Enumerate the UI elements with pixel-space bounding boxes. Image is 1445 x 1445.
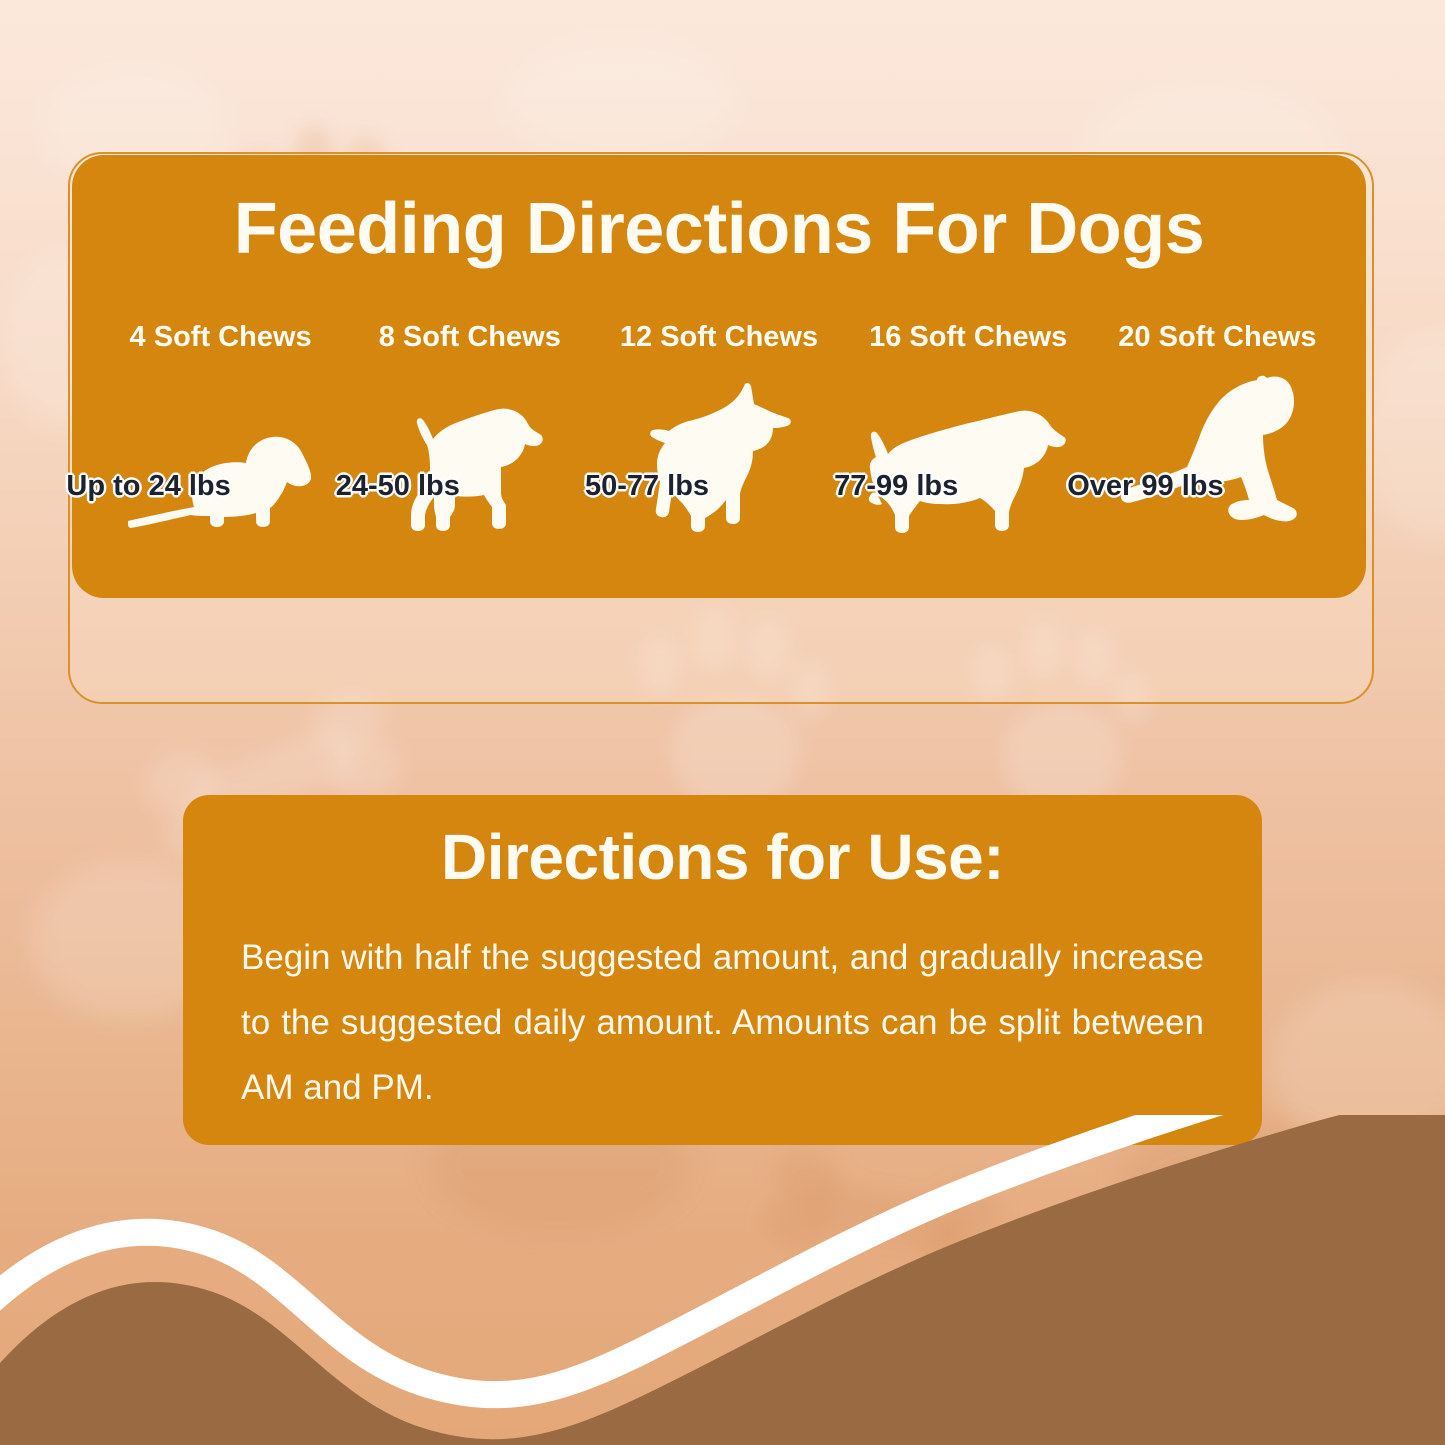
weight-range-label: 50-77 lbs [522, 470, 771, 503]
dog-silhouette-cell [345, 367, 594, 537]
page-title: Feeding Directions For Dogs [72, 193, 1366, 265]
directions-title: Directions for Use: [183, 825, 1262, 889]
dog-silhouette-cell [594, 367, 843, 537]
dog-silhouette-cell [844, 367, 1093, 537]
weight-range-row: Up to 24 lbs 24-50 lbs 50-77 lbs 77-99 l… [24, 470, 1270, 503]
weight-range-label: 77-99 lbs [772, 470, 1021, 503]
dog-silhouettes-row [96, 367, 1342, 537]
directions-for-use-card: Directions for Use: Begin with half the … [183, 795, 1262, 1145]
soft-chews-row: 4 Soft Chews 8 Soft Chews 12 Soft Chews … [96, 321, 1342, 354]
dog-silhouette-cell [1093, 367, 1342, 537]
bottom-wave-decoration [0, 1115, 1445, 1445]
dog-silhouette-cell [96, 367, 345, 537]
weight-range-label: 24-50 lbs [273, 470, 522, 503]
wave-brown-fill [0, 1115, 1445, 1445]
feeding-directions-inner-panel: Feeding Directions For Dogs 4 Soft Chews… [72, 155, 1366, 598]
sitting-dog-icon [1117, 372, 1317, 537]
soft-chews-label: 8 Soft Chews [345, 321, 594, 354]
schnauzer-dog-icon [647, 382, 792, 537]
soft-chews-label: 4 Soft Chews [96, 321, 345, 354]
soft-chews-label: 12 Soft Chews [594, 321, 843, 354]
directions-body-text: Begin with half the suggested amount, an… [241, 925, 1204, 1120]
soft-chews-label: 16 Soft Chews [844, 321, 1093, 354]
background-blob [500, 40, 740, 160]
beagle-dog-icon [395, 397, 545, 537]
weight-range-label: Up to 24 lbs [24, 470, 273, 503]
soft-chews-label: 20 Soft Chews [1093, 321, 1342, 354]
infographic-page: Feeding Directions For Dogs 4 Soft Chews… [0, 0, 1445, 1445]
weight-range-label: Over 99 lbs [1021, 470, 1270, 503]
